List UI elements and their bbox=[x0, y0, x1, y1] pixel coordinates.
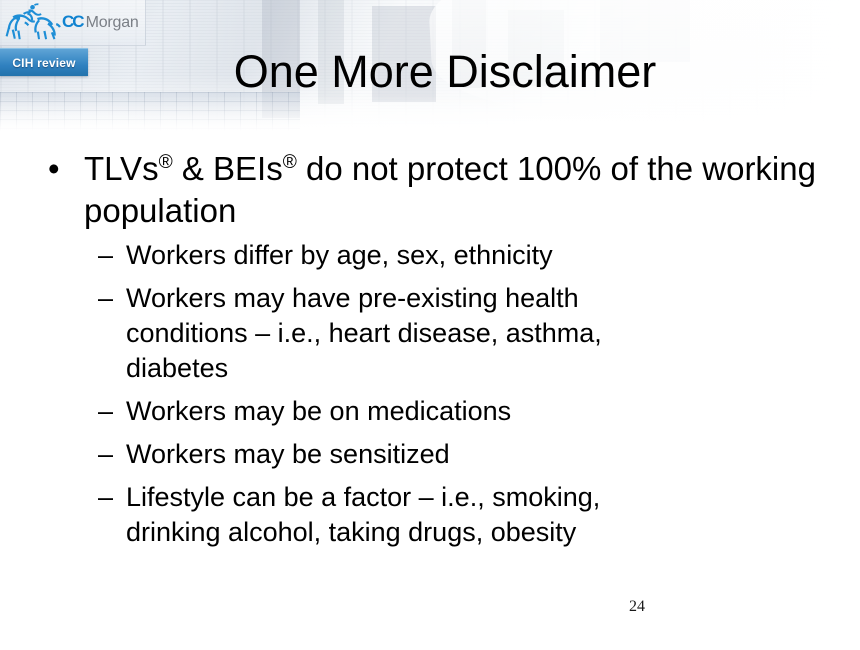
logo-morgan-text: Morgan bbox=[86, 14, 139, 31]
bullet-text-level2: Workers may be on medications bbox=[126, 396, 511, 426]
bullet-list-level1: • TLVs® & BEIs® do not protect 100% of t… bbox=[0, 148, 860, 551]
bullet-text-level2: Workers differ by age, sex, ethnicity bbox=[126, 240, 553, 270]
dash-marker-icon: – bbox=[98, 281, 113, 316]
bullet-text-level1: TLVs® & BEIs® do not protect 100% of the… bbox=[84, 150, 816, 229]
bullet-marker-icon: • bbox=[48, 148, 60, 190]
registered-trademark-symbol: ® bbox=[159, 152, 173, 173]
slide-body: • TLVs® & BEIs® do not protect 100% of t… bbox=[0, 148, 860, 559]
bullet-item-level2: – Workers may be on medications bbox=[84, 394, 820, 429]
dash-marker-icon: – bbox=[98, 437, 113, 472]
ccmorgan-emblem-icon bbox=[4, 2, 62, 43]
bullet-text-level2: Workers may be sensitized bbox=[126, 439, 450, 469]
brand-logo: CCMorgan bbox=[0, 0, 146, 46]
bullet-list-level2: – Workers differ by age, sex, ethnicity … bbox=[84, 238, 820, 551]
brand-wordmark: CCMorgan bbox=[62, 12, 139, 32]
bullet-item-level2: – Workers differ by age, sex, ethnicity bbox=[84, 238, 820, 273]
logo-cc-text: CC bbox=[62, 12, 83, 31]
slide-page-number: 24 bbox=[612, 598, 662, 616]
page-title: One More Disclaimer bbox=[165, 48, 725, 96]
bullet-item-level2: – Lifestyle can be a factor – i.e., smok… bbox=[84, 480, 820, 550]
cih-review-badge-label: CIH review bbox=[12, 56, 75, 70]
bullet-text-level2: Workers may have pre-existing health con… bbox=[126, 283, 602, 383]
bullet-item-level2: – Workers may be sensitized bbox=[84, 437, 820, 472]
banner-bottom-fade bbox=[0, 95, 860, 135]
registered-trademark-symbol: ® bbox=[283, 152, 297, 173]
dash-marker-icon: – bbox=[98, 238, 113, 273]
dash-marker-icon: – bbox=[98, 394, 113, 429]
presentation-slide: CCMorgan CIH review One More Disclaimer … bbox=[0, 0, 860, 650]
bullet-text-part: & BEIs bbox=[173, 150, 283, 187]
bullet-item-level1: • TLVs® & BEIs® do not protect 100% of t… bbox=[0, 148, 860, 551]
bullet-item-level2: – Workers may have pre-existing health c… bbox=[84, 281, 820, 386]
dash-marker-icon: – bbox=[98, 480, 113, 515]
bullet-text-part: TLVs bbox=[84, 150, 159, 187]
bullet-text-level2: Lifestyle can be a factor – i.e., smokin… bbox=[126, 482, 600, 547]
cih-review-badge: CIH review bbox=[0, 48, 88, 76]
